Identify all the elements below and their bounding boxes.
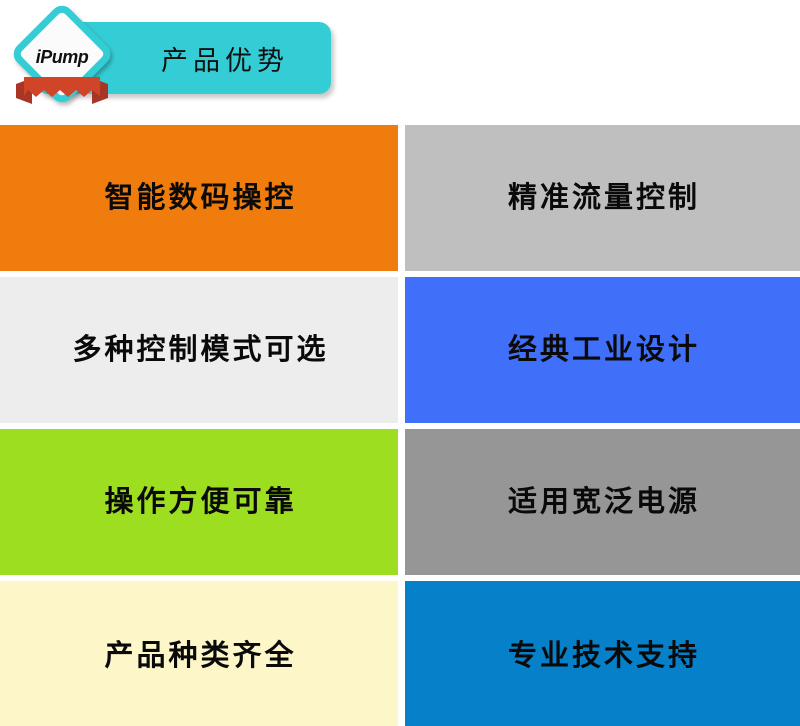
page-header: 产品优势 iPump xyxy=(0,0,800,120)
product-advantages-page: 产品优势 iPump xyxy=(0,0,800,726)
advantage-cell[interactable]: 多种控制模式可选 xyxy=(0,277,398,423)
advantages-grid: 智能数码操控 精准流量控制 多种控制模式可选 经典工业设计 操作方便可靠 适用宽… xyxy=(0,125,800,726)
advantage-cell[interactable]: 智能数码操控 xyxy=(0,125,398,271)
advantage-label: 经典工业设计 xyxy=(505,336,700,365)
advantage-cell[interactable]: 经典工业设计 xyxy=(405,277,800,423)
ipump-diamond-logo: iPump xyxy=(6,4,118,116)
advantage-cell[interactable]: 精准流量控制 xyxy=(405,125,800,271)
advantage-cell[interactable]: 专业技术支持 xyxy=(405,581,800,726)
advantage-label: 适用宽泛电源 xyxy=(505,488,700,517)
advantage-label: 操作方便可靠 xyxy=(101,488,296,517)
page-title: 产品优势 xyxy=(110,22,335,94)
advantage-label: 智能数码操控 xyxy=(101,184,296,213)
advantage-label: 产品种类齐全 xyxy=(101,642,296,671)
advantage-label: 专业技术支持 xyxy=(505,642,700,671)
advantage-cell[interactable]: 操作方便可靠 xyxy=(0,429,398,575)
advantage-label: 多种控制模式可选 xyxy=(69,336,328,365)
advantage-label: 精准流量控制 xyxy=(505,184,700,213)
advantage-cell[interactable]: 产品种类齐全 xyxy=(0,581,398,726)
advantage-cell[interactable]: 适用宽泛电源 xyxy=(405,429,800,575)
